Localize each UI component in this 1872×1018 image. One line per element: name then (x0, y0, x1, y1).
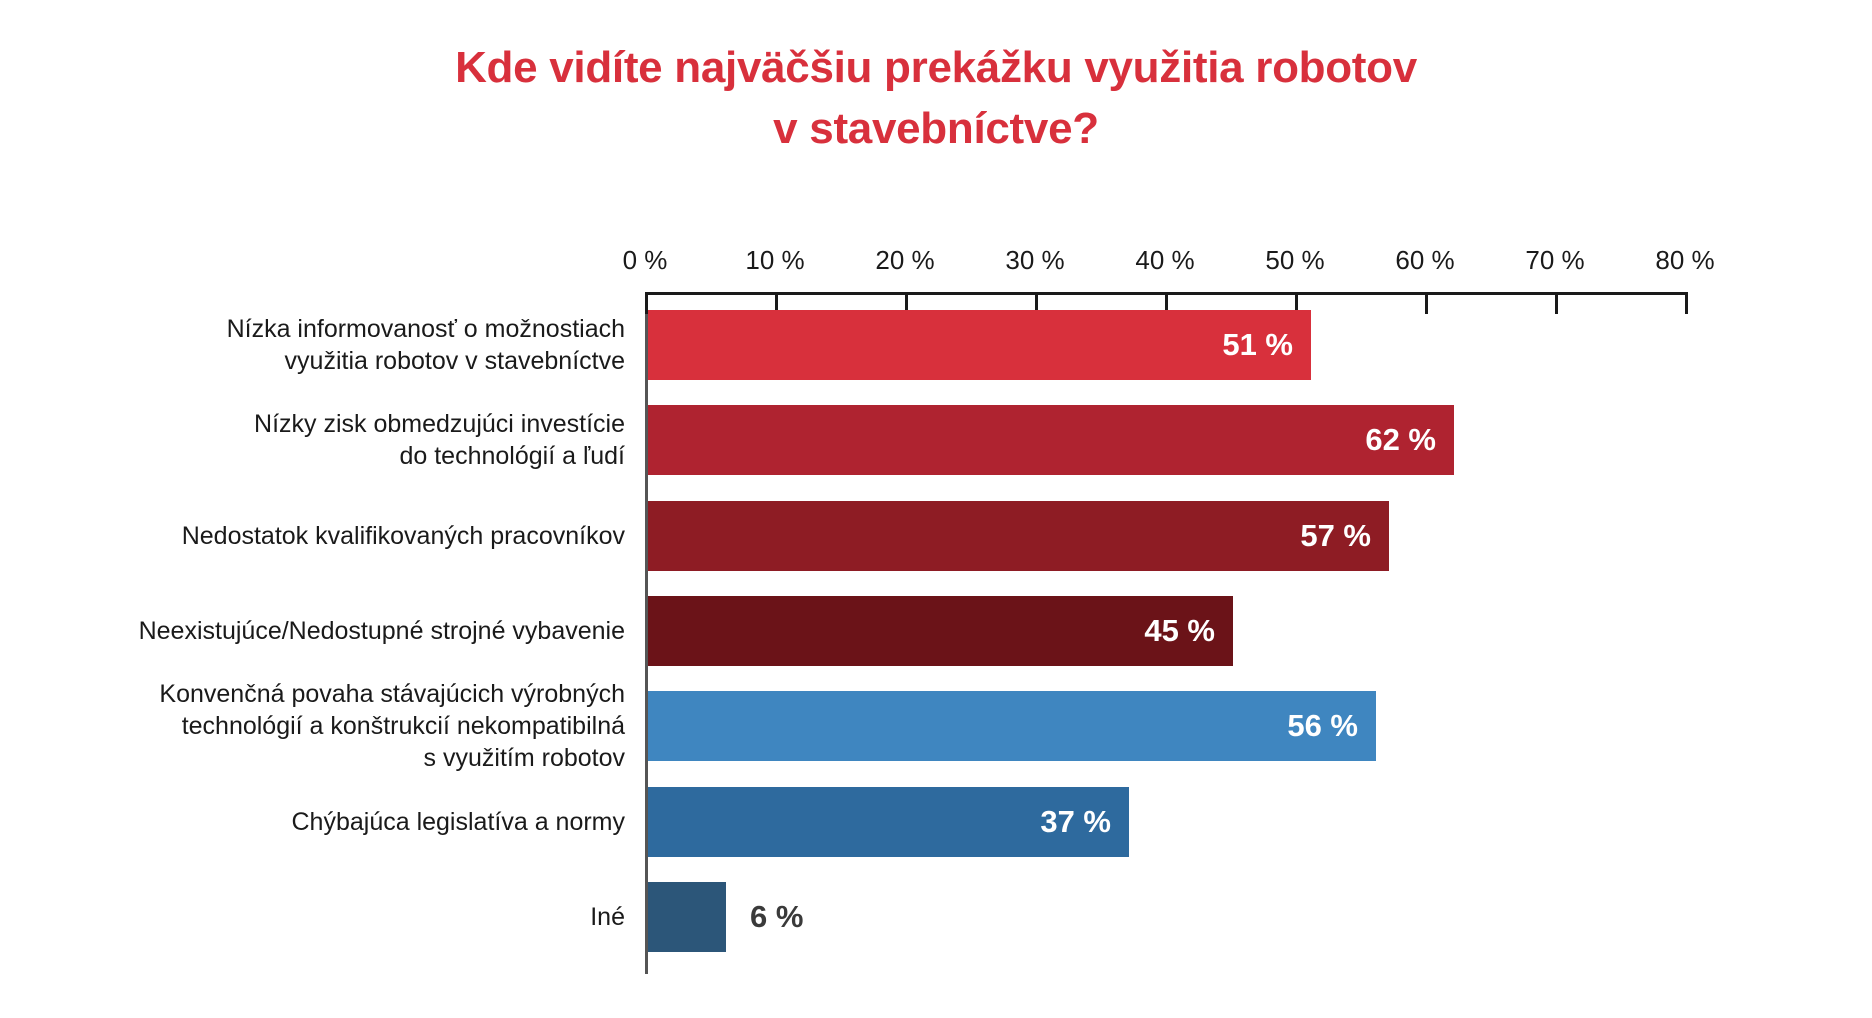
bar-row: Nedostatok kvalifikovaných pracovníkov57… (0, 501, 1872, 571)
bar-value-label: 37 % (1040, 804, 1111, 840)
x-axis-tick-label: 80 % (1655, 245, 1714, 276)
bar-value-label: 6 % (750, 899, 803, 935)
x-axis-tick-label: 40 % (1135, 245, 1194, 276)
x-axis-tick-label: 30 % (1005, 245, 1064, 276)
bar-row: Neexistujúce/Nedostupné strojné vybaveni… (0, 596, 1872, 666)
bar-category-label: Iné (65, 901, 625, 933)
bar-category-label: Nedostatok kvalifikovaných pracovníkov (65, 520, 625, 552)
bar-row: Nízka informovanosť o možnostiach využit… (0, 310, 1872, 380)
bar-row: Iné6 % (0, 882, 1872, 952)
bar-category-label: Konvenčná povaha stávajúcich výrobných t… (65, 678, 625, 774)
x-axis-tick-label: 0 % (623, 245, 668, 276)
bar[interactable]: 56 % (648, 691, 1376, 761)
x-axis-tick-label: 50 % (1265, 245, 1324, 276)
bar-chart: 0 %10 %20 %30 %40 %50 %60 %70 %80 % Nízk… (0, 0, 1872, 1018)
bar-category-label: Chýbajúca legislatíva a normy (65, 806, 625, 838)
bar-category-label: Neexistujúce/Nedostupné strojné vybaveni… (65, 615, 625, 647)
bar-row: Chýbajúca legislatíva a normy37 % (0, 787, 1872, 857)
x-axis-tick-label: 60 % (1395, 245, 1454, 276)
bar-value-label: 45 % (1144, 613, 1215, 649)
bar-value-label: 51 % (1222, 327, 1293, 363)
bar-category-label: Nízky zisk obmedzujúci investície do tec… (65, 408, 625, 472)
bar-value-label: 57 % (1300, 518, 1371, 554)
bar-category-label: Nízka informovanosť o možnostiach využit… (65, 313, 625, 377)
bar[interactable]: 37 % (648, 787, 1129, 857)
bar[interactable]: 45 % (648, 596, 1233, 666)
bar[interactable]: 57 % (648, 501, 1389, 571)
bar-value-label: 56 % (1287, 708, 1358, 744)
x-axis-tick-label: 70 % (1525, 245, 1584, 276)
x-axis-tick-label: 20 % (875, 245, 934, 276)
bar[interactable]: 51 % (648, 310, 1311, 380)
bar[interactable]: 62 % (648, 405, 1454, 475)
x-axis-tick-label: 10 % (745, 245, 804, 276)
bar-value-label: 62 % (1365, 422, 1436, 458)
bar-row: Nízky zisk obmedzujúci investície do tec… (0, 405, 1872, 475)
bar[interactable] (648, 882, 726, 952)
bar-row: Konvenčná povaha stávajúcich výrobných t… (0, 691, 1872, 761)
